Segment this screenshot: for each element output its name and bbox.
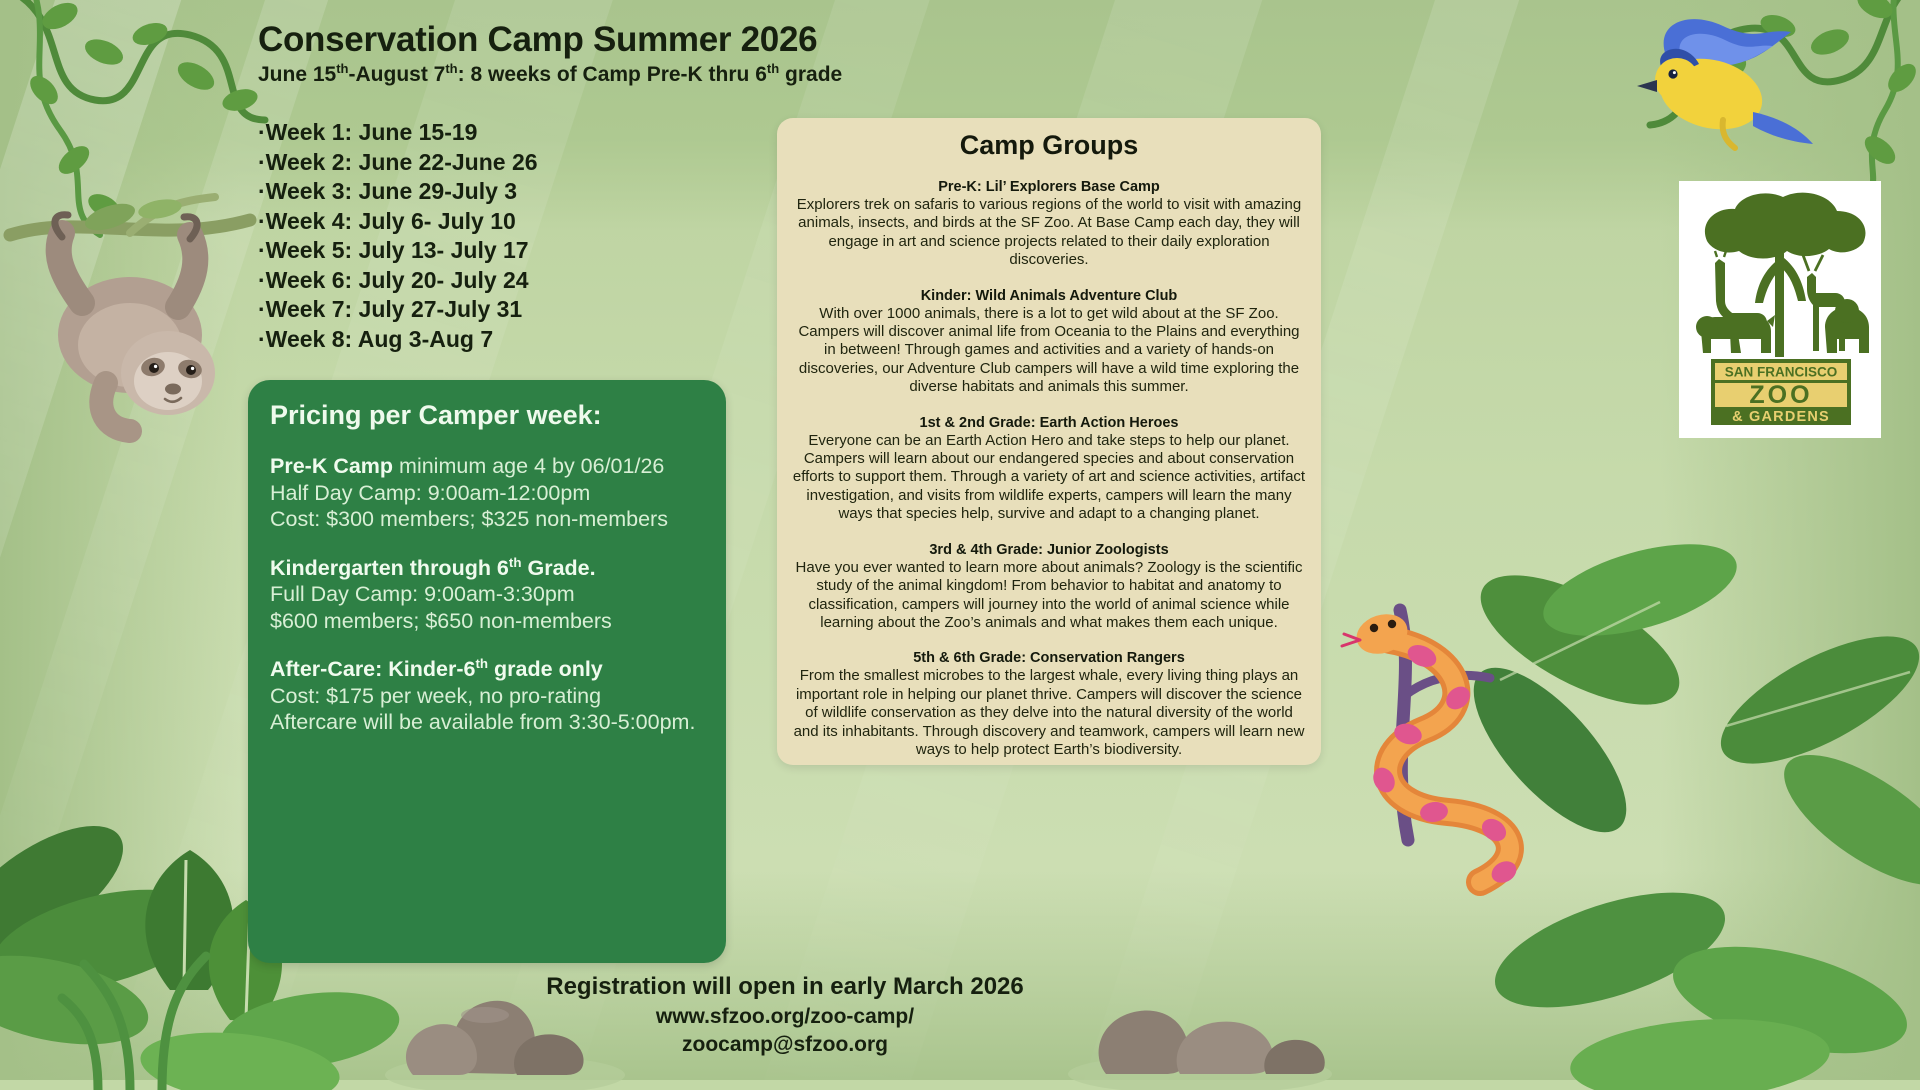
list-item: ·Week 3: June 29-July 3 xyxy=(258,177,688,207)
camp-group-heading: 3rd & 4th Grade: Junior Zoologists xyxy=(791,542,1307,558)
prek-label: Pre-K Camp xyxy=(270,454,393,478)
camp-groups-title: Camp Groups xyxy=(777,130,1321,161)
subtitle-part-a: June 15 xyxy=(258,63,336,86)
camp-group-description: From the smallest microbes to the larges… xyxy=(791,667,1307,759)
sf-zoo-logo-artwork: SAN FRANCISCO ZOO & GARDENS xyxy=(1679,181,1881,438)
registration-notice: Registration will open in early March 20… xyxy=(0,973,1570,1001)
pricing-card: Pricing per Camper week: Pre-K Camp mini… xyxy=(248,380,726,963)
list-item: ·Week 6: July 20- July 24 xyxy=(258,266,688,296)
list-item: ·Week 1: June 15-19 xyxy=(258,118,688,148)
list-item: ·Week 8: Aug 3-Aug 7 xyxy=(258,325,688,355)
aftercare-ordinal: th xyxy=(475,656,488,671)
list-item: ·Week 7: July 27-July 31 xyxy=(258,295,688,325)
camp-group-heading: 5th & 6th Grade: Conservation Rangers xyxy=(791,650,1307,666)
logo-line-2: ZOO xyxy=(1749,381,1812,409)
kinder-label: Kindergarten through 6th Grade. xyxy=(270,555,710,582)
camp-group-heading: Kinder: Wild Animals Adventure Club xyxy=(791,288,1307,304)
camp-group-grade1-2: 1st & 2nd Grade: Earth Action Heroes Eve… xyxy=(777,415,1321,524)
kinder-label-b: Grade. xyxy=(522,556,596,580)
camp-group-grade5-6: 5th & 6th Grade: Conservation Rangers Fr… xyxy=(777,650,1321,759)
pricing-group-aftercare: After-Care: Kinder-6th grade only Cost: … xyxy=(270,656,710,736)
pricing-group-kinder: Kindergarten through 6th Grade. Full Day… xyxy=(270,555,710,635)
camp-group-description: Everyone can be an Earth Action Hero and… xyxy=(791,432,1307,524)
logo-line-1: SAN FRANCISCO xyxy=(1725,365,1838,380)
subtitle-part-c: : 8 weeks of Camp Pre-K thru 6 xyxy=(458,63,767,86)
camp-email-link[interactable]: zoocamp@sfzoo.org xyxy=(0,1033,1570,1057)
pricing-group-prek: Pre-K Camp minimum age 4 by 06/01/26 Hal… xyxy=(270,453,710,533)
subtitle-ordinal-2: th xyxy=(445,61,457,76)
aftercare-label-a: After-Care: Kinder-6 xyxy=(270,657,475,681)
date-range-subtitle: June 15th-August 7th: 8 weeks of Camp Pr… xyxy=(258,63,1158,87)
prek-hours: Half Day Camp: 9:00am-12:00pm xyxy=(270,480,710,507)
kinder-label-a: Kindergarten through 6 xyxy=(270,556,509,580)
logo-line-3: & GARDENS xyxy=(1732,409,1830,425)
list-item: ·Week 2: June 22-June 26 xyxy=(258,148,688,178)
camp-group-prek: Pre-K: Lil’ Explorers Base Camp Explorer… xyxy=(777,179,1321,270)
kinder-cost: $600 members; $650 non-members xyxy=(270,608,710,635)
subtitle-part-d: grade xyxy=(779,63,842,86)
camp-group-grade3-4: 3rd & 4th Grade: Junior Zoologists Have … xyxy=(777,542,1321,633)
prek-rest: minimum age 4 by 06/01/26 xyxy=(393,454,664,478)
camp-group-kinder: Kinder: Wild Animals Adventure Club With… xyxy=(777,288,1321,397)
kinder-ordinal: th xyxy=(509,554,522,569)
pricing-card-title: Pricing per Camper week: xyxy=(270,400,602,431)
camp-group-description: Have you ever wanted to learn more about… xyxy=(791,559,1307,633)
page-title: Conservation Camp Summer 2026 xyxy=(258,20,1018,60)
camp-group-heading: Pre-K: Lil’ Explorers Base Camp xyxy=(791,179,1307,195)
prek-cost: Cost: $300 members; $325 non-members xyxy=(270,506,710,533)
aftercare-label: After-Care: Kinder-6th grade only xyxy=(270,656,710,683)
subtitle-ordinal-3: th xyxy=(767,61,779,76)
subtitle-part-b: -August 7 xyxy=(349,63,446,86)
list-item: ·Week 4: July 6- July 10 xyxy=(258,207,688,237)
camp-group-description: With over 1000 animals, there is a lot t… xyxy=(791,305,1307,397)
aftercare-hours: Aftercare will be available from 3:30-5:… xyxy=(270,709,710,736)
camp-group-description: Explorers trek on safaris to various reg… xyxy=(791,196,1307,270)
pricing-card-body: Pre-K Camp minimum age 4 by 06/01/26 Hal… xyxy=(270,453,710,736)
prek-line: Pre-K Camp minimum age 4 by 06/01/26 xyxy=(270,453,710,480)
camp-groups-panel: Camp Groups Pre-K: Lil’ Explorers Base C… xyxy=(777,118,1321,765)
kinder-hours: Full Day Camp: 9:00am-3:30pm xyxy=(270,581,710,608)
aftercare-label-b: grade only xyxy=(488,657,603,681)
footer-block: Registration will open in early March 20… xyxy=(0,973,1570,1057)
gorilla-icon xyxy=(1825,299,1869,353)
week-list: ·Week 1: June 15-19 ·Week 2: June 22-Jun… xyxy=(258,118,688,354)
subtitle-ordinal-1: th xyxy=(336,61,348,76)
camp-website-link[interactable]: www.sfzoo.org/zoo-camp/ xyxy=(0,1005,1570,1029)
sf-zoo-logo: SAN FRANCISCO ZOO & GARDENS xyxy=(1679,181,1881,438)
list-item: ·Week 5: July 13- July 17 xyxy=(258,236,688,266)
camp-group-heading: 1st & 2nd Grade: Earth Action Heroes xyxy=(791,415,1307,431)
aftercare-cost: Cost: $175 per week, no pro-rating xyxy=(270,683,710,710)
